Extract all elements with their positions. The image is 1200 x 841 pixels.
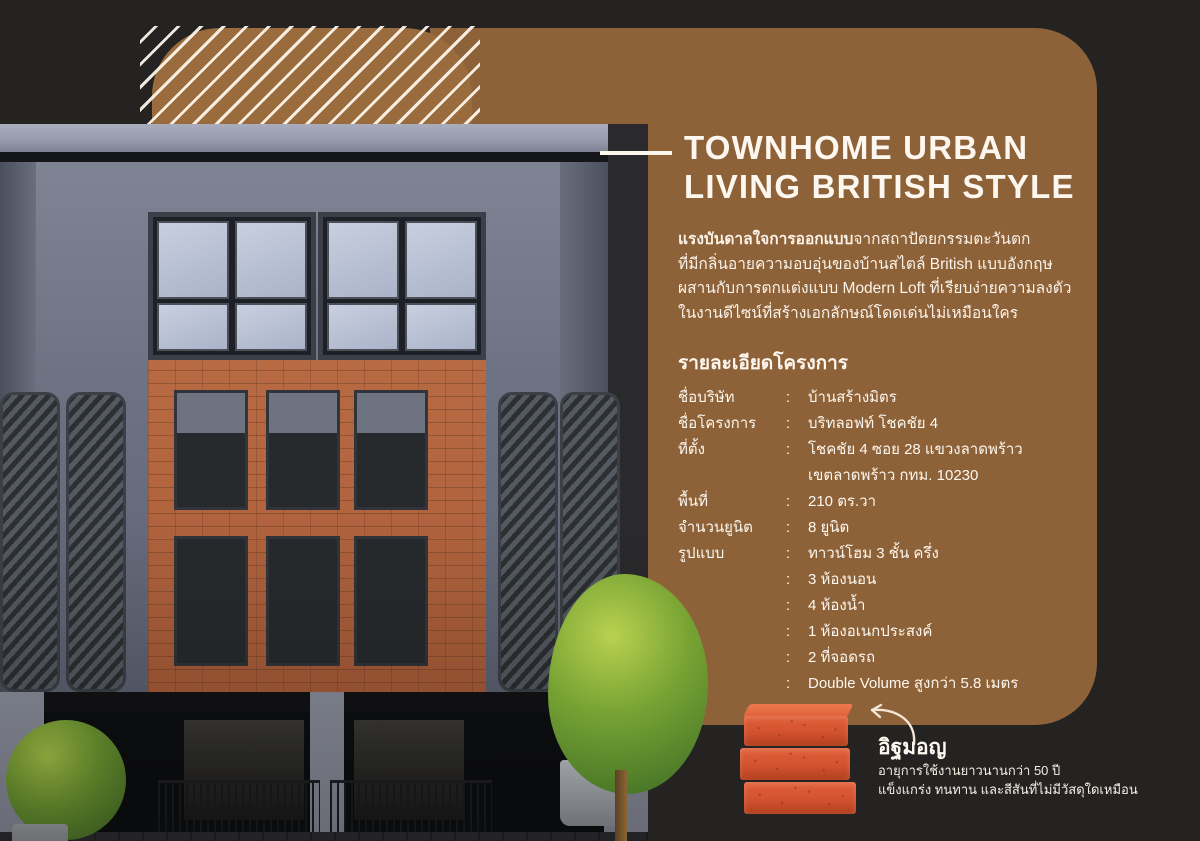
intro-paragraph: แรงบันดาลใจการออกแบบจากสถาปัตยกรรมตะวันต… — [678, 228, 1078, 326]
detail-colon: : — [786, 619, 808, 645]
detail-value: บ้านสร้างมิตร — [808, 385, 1078, 411]
detail-row: :2 ที่จอดรถ — [678, 645, 1078, 671]
poster-page: TOWNHOME URBAN LIVING BRITISH STYLE แรงบ… — [0, 0, 1200, 841]
details-section-title: รายละเอียดโครงการ — [678, 348, 848, 378]
detail-value-second-line: เขตลาดพร้าว กทม. 10230 — [808, 463, 1078, 489]
brick-facade-panel — [148, 360, 486, 696]
intro-line-1: แรงบันดาลใจการออกแบบจากสถาปัตยกรรมตะวันต… — [678, 228, 1078, 253]
detail-label: ที่ตั้ง — [678, 437, 786, 463]
intro-line-3: ผสานกับการตกแต่งแบบ Modern Loft ที่เรียบ… — [678, 277, 1078, 302]
headline-line-1: TOWNHOME URBAN — [684, 128, 1084, 167]
detail-value: 2 ที่จอดรถ — [808, 645, 1078, 671]
detail-label: ชื่อบริษัท — [678, 385, 786, 411]
fence-left — [158, 780, 320, 840]
project-details-list: ชื่อบริษัท:บ้านสร้างมิตรชื่อโครงการ:บริท… — [678, 385, 1078, 697]
building-photo — [0, 124, 648, 841]
detail-label: รูปแบบ — [678, 541, 786, 567]
detail-value: 210 ตร.วา — [808, 489, 1078, 515]
tree-left — [6, 720, 126, 840]
detail-row: ชื่อบริษัท:บ้านสร้างมิตร — [678, 385, 1078, 411]
detail-colon: : — [786, 593, 808, 619]
detail-value: บริทลอฟท์ โชคชัย 4 — [808, 411, 1078, 437]
planter-left — [12, 824, 68, 841]
parapet-shadow — [0, 152, 608, 162]
page-title: TOWNHOME URBAN LIVING BRITISH STYLE — [684, 128, 1084, 206]
detail-colon: : — [786, 489, 808, 515]
detail-value: Double Volume สูงกว่า 5.8 เมตร — [808, 671, 1078, 697]
tree-trunk — [615, 770, 627, 841]
detail-colon: : — [786, 671, 808, 697]
detail-value: ทาวน์โฮม 3 ชั้น ครึ่ง — [808, 541, 1078, 567]
headline-line-2: LIVING BRITISH STYLE — [684, 167, 1084, 206]
brick-callout: อิฐมอญ อายุการใช้งานยาวนานกว่า 50 ปี แข็… — [878, 735, 1168, 799]
stacked-bricks-image — [738, 704, 860, 816]
detail-row: พื้นที่:210 ตร.วา — [678, 489, 1078, 515]
decorative-rounded-shape — [152, 28, 472, 128]
intro-line-1-rest: จากสถาปัตยกรรมตะวันตก — [853, 231, 1030, 248]
paving — [0, 832, 648, 841]
louver-screen — [0, 392, 60, 692]
headline-rule — [600, 151, 672, 155]
intro-line-4: ในงานดีไซน์ที่สร้างเอกลักษณ์โดดเด่นไม่เห… — [678, 302, 1078, 327]
detail-label: ชื่อโครงการ — [678, 411, 786, 437]
intro-bold-lead: แรงบันดาลใจการออกแบบ — [678, 231, 853, 248]
roof-parapet — [0, 124, 608, 152]
brick-callout-heading: อิฐมอญ — [878, 735, 1168, 761]
detail-value: โชคชัย 4 ซอย 28 แขวงลาดพร้าวเขตลาดพร้าว … — [808, 437, 1078, 489]
detail-colon: : — [786, 411, 808, 437]
brick-callout-line-1: อายุการใช้งานยาวนานกว่า 50 ปี — [878, 761, 1168, 780]
detail-row: ชื่อโครงการ:บริทลอฟท์ โชคชัย 4 — [678, 411, 1078, 437]
detail-colon: : — [786, 645, 808, 671]
louver-screen — [66, 392, 126, 692]
detail-row: จำนวนยูนิต:8 ยูนิต — [678, 515, 1078, 541]
detail-colon: : — [786, 541, 808, 567]
detail-value: 3 ห้องนอน — [808, 567, 1078, 593]
detail-row: :Double Volume สูงกว่า 5.8 เมตร — [678, 671, 1078, 697]
fence-right — [330, 780, 492, 840]
detail-colon: : — [786, 437, 808, 463]
upper-window-left — [148, 212, 316, 360]
detail-value: 1 ห้องอเนกประสงค์ — [808, 619, 1078, 645]
detail-label: จำนวนยูนิต — [678, 515, 786, 541]
detail-row: :1 ห้องอเนกประสงค์ — [678, 619, 1078, 645]
brick-callout-line-2: แข็งแกร่ง ทนทาน และสีสันที่ไม่มีวัสดุใดเ… — [878, 780, 1168, 799]
detail-row: รูปแบบ:ทาวน์โฮม 3 ชั้น ครึ่ง — [678, 541, 1078, 567]
upper-window-right — [318, 212, 486, 360]
detail-row: ที่ตั้ง:โชคชัย 4 ซอย 28 แขวงลาดพร้าวเขตล… — [678, 437, 1078, 489]
intro-line-2: ที่มีกลิ่นอายความอบอุ่นของบ้านสไตล์ Brit… — [678, 253, 1078, 278]
detail-row: :3 ห้องนอน — [678, 567, 1078, 593]
louver-screen — [498, 392, 558, 692]
detail-value: 4 ห้องน้ำ — [808, 593, 1078, 619]
detail-colon: : — [786, 567, 808, 593]
detail-value: 8 ยูนิต — [808, 515, 1078, 541]
detail-row: :4 ห้องน้ำ — [678, 593, 1078, 619]
detail-label: พื้นที่ — [678, 489, 786, 515]
detail-colon: : — [786, 515, 808, 541]
detail-colon: : — [786, 385, 808, 411]
